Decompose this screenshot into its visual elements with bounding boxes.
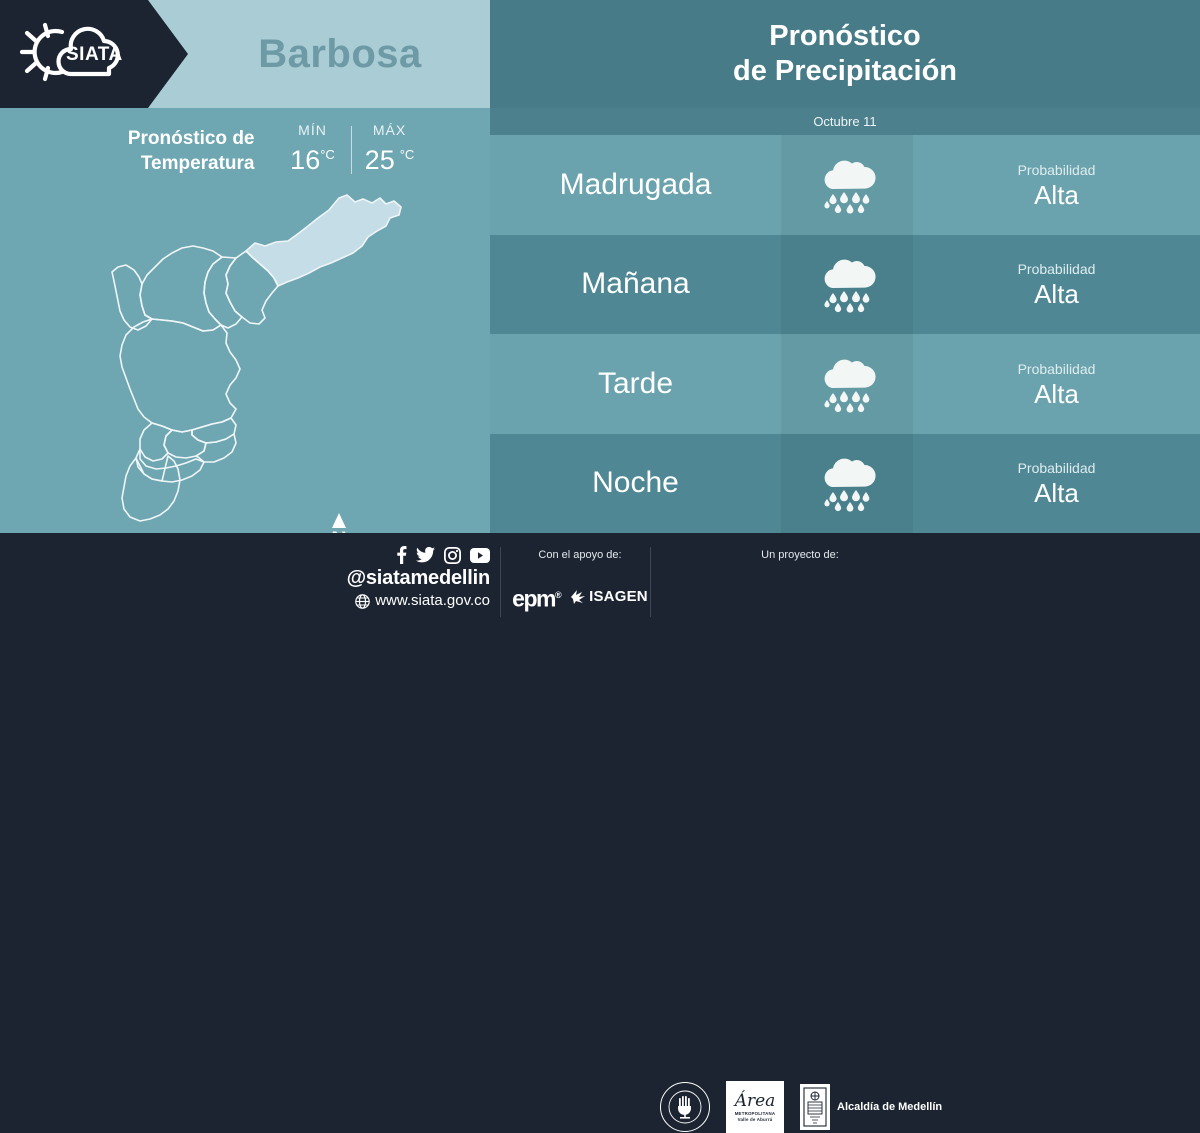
footer-divider-2 xyxy=(650,547,651,617)
project-logos: Área METROPOLITANA Valle de Aburrá Alcal… xyxy=(660,1081,942,1133)
temperature-min-unit: °C xyxy=(320,147,335,162)
city-title: Barbosa xyxy=(190,0,490,108)
probability-label: Probabilidad xyxy=(1018,458,1096,478)
temperature-min-label: MÍN xyxy=(298,120,327,140)
period-label: Tarde xyxy=(490,334,781,434)
rain-cloud-icon xyxy=(781,235,913,335)
area-metropolitana-logo: Área METROPOLITANA Valle de Aburrá xyxy=(726,1081,784,1133)
probability-label: Probabilidad xyxy=(1018,259,1096,279)
forecast-date: Octubre 11 xyxy=(490,108,1200,135)
alcaldia-label: Alcaldía de Medellín xyxy=(837,1100,942,1114)
temperature-max: MÁX 25°C xyxy=(354,120,426,175)
temperature-forecast: Pronóstico de Temperatura MÍN 16°C MÁX 2… xyxy=(0,118,490,188)
probability-value: Alta xyxy=(1034,279,1079,309)
period-label: Mañana xyxy=(490,235,781,335)
area-logo-script: Área xyxy=(735,1092,776,1111)
instagram-icon[interactable] xyxy=(444,547,461,564)
support-title: Con el apoyo de: xyxy=(505,547,655,563)
facebook-icon[interactable] xyxy=(396,546,407,564)
globe-icon xyxy=(355,594,370,609)
siata-logo-badge: SIATA xyxy=(0,0,188,108)
area-logo-sub2: Valle de Aburrá xyxy=(738,1117,773,1123)
footer-divider-1 xyxy=(500,547,501,617)
temperature-title-line2: Temperatura xyxy=(65,151,255,176)
rain-cloud-icon xyxy=(781,434,913,534)
alcaldia-block: Alcaldía de Medellín xyxy=(800,1084,942,1130)
table-row: Tarde xyxy=(490,334,1200,434)
rain-cloud-icon xyxy=(781,334,913,434)
precipitation-panel: Pronóstico de Precipitación Octubre 11 M… xyxy=(490,0,1200,533)
isagen-logo: ISAGEN xyxy=(570,588,648,605)
temperature-min: MÍN 16°C xyxy=(277,120,349,175)
twitter-icon[interactable] xyxy=(416,547,435,563)
temperature-max-label: MÁX xyxy=(373,120,406,140)
support-block: Con el apoyo de: epm® ISAGEN xyxy=(505,547,655,611)
website-url[interactable]: www.siata.gov.co xyxy=(375,591,490,611)
temperature-title-line1: Pronóstico de xyxy=(65,126,255,151)
temperature-max-unit: °C xyxy=(400,147,415,162)
aburra-valley-map: N xyxy=(50,185,440,525)
compass-arrow-icon xyxy=(332,513,346,528)
probability-value: Alta xyxy=(1034,478,1079,508)
alcaldia-shield-icon xyxy=(800,1084,830,1130)
weather-forecast-infographic: SIATA Barbosa Pronóstico de Temperatura … xyxy=(0,0,1200,630)
precipitation-header: Pronóstico de Precipitación xyxy=(490,0,1200,108)
sun-cloud-icon: SIATA xyxy=(14,19,132,90)
temperature-min-value: 16°C xyxy=(290,140,335,175)
social-icons xyxy=(330,545,490,565)
table-row: Mañana xyxy=(490,235,1200,335)
probability-value: Alta xyxy=(1034,180,1079,210)
probability-value: Alta xyxy=(1034,379,1079,409)
temperature-values: MÍN 16°C MÁX 25°C xyxy=(277,118,426,175)
project-block: Un proyecto de: xyxy=(700,547,900,563)
probability-cell: Probabilidad Alta xyxy=(913,135,1200,235)
precipitation-title-line2: de Precipitación xyxy=(733,54,957,89)
project-title: Un proyecto de: xyxy=(700,547,900,563)
temperature-max-value: 25°C xyxy=(365,140,415,175)
epm-logo: epm® xyxy=(512,583,560,611)
precipitation-title-line1: Pronóstico xyxy=(769,19,920,54)
period-label: Noche xyxy=(490,434,781,534)
probability-label: Probabilidad xyxy=(1018,359,1096,379)
youtube-icon[interactable] xyxy=(470,548,490,563)
period-label: Madrugada xyxy=(490,135,781,235)
forecast-rows: Madrugada xyxy=(490,135,1200,533)
left-header-bar: SIATA Barbosa xyxy=(0,0,490,108)
support-logos: epm® ISAGEN xyxy=(505,583,655,611)
udea-seal-icon xyxy=(660,1082,710,1132)
rain-cloud-icon xyxy=(781,135,913,235)
svg-text:SIATA: SIATA xyxy=(66,44,123,65)
footer: @siatamedellin www.siata.gov.co Con el a… xyxy=(0,533,1200,630)
temperature-divider xyxy=(351,126,352,174)
social-block: @siatamedellin www.siata.gov.co xyxy=(330,545,490,611)
website-line[interactable]: www.siata.gov.co xyxy=(330,591,490,611)
table-row: Noche xyxy=(490,434,1200,534)
probability-cell: Probabilidad Alta xyxy=(913,334,1200,434)
table-row: Madrugada xyxy=(490,135,1200,235)
left-panel: SIATA Barbosa Pronóstico de Temperatura … xyxy=(0,0,490,533)
temperature-title: Pronóstico de Temperatura xyxy=(65,118,255,176)
probability-label: Probabilidad xyxy=(1018,160,1096,180)
probability-cell: Probabilidad Alta xyxy=(913,434,1200,534)
social-handle[interactable]: @siatamedellin xyxy=(330,565,490,591)
probability-cell: Probabilidad Alta xyxy=(913,235,1200,335)
